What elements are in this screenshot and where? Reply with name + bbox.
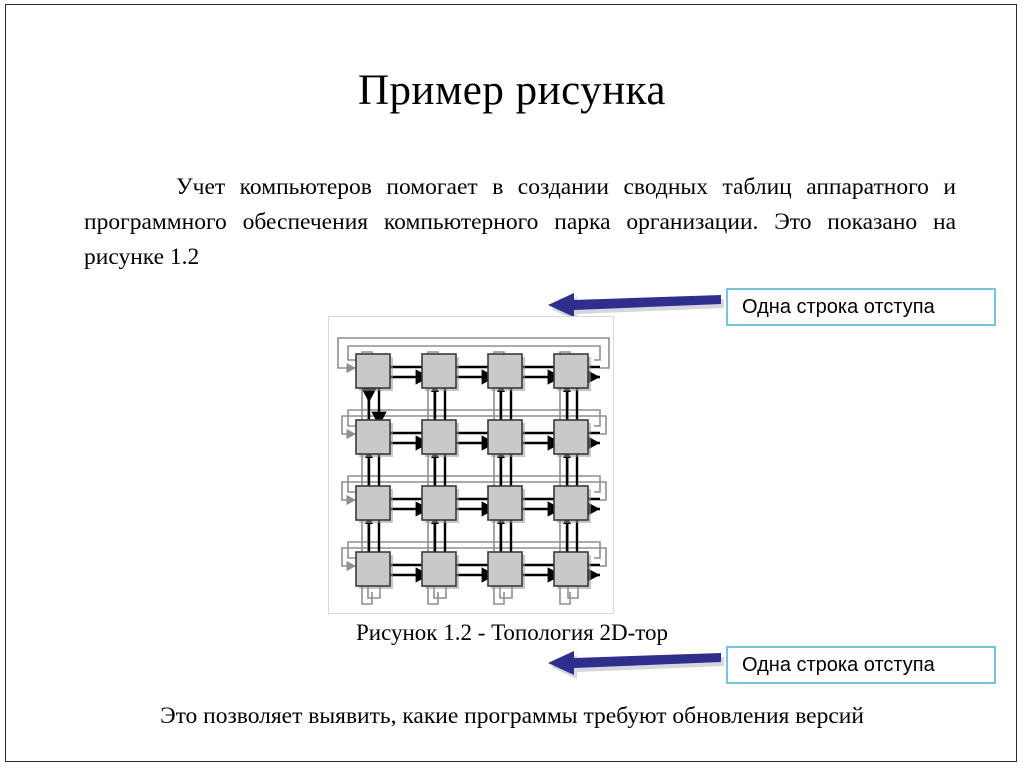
- annotation-arrow-bottom: [548, 650, 724, 684]
- intro-paragraph: Учет компьютеров помогает в создании сво…: [84, 170, 956, 275]
- closing-line: Это позволяет выявить, какие программы т…: [0, 700, 1024, 732]
- callout-label-bottom: Одна строка отступа: [742, 654, 935, 677]
- figure-caption: Рисунок 1.2 - Топология 2D-тор: [0, 618, 1024, 648]
- callout-box-top: Одна строка отступа: [726, 288, 996, 326]
- page-title: Пример рисунка: [0, 66, 1024, 116]
- callout-label-top: Одна строка отступа: [742, 296, 935, 319]
- figure-2d-torus: [328, 316, 614, 614]
- torus-diagram-svg: [328, 316, 614, 614]
- callout-box-bottom: Одна строка отступа: [726, 646, 996, 684]
- left-arrow-icon: [548, 650, 724, 684]
- slide-canvas: Пример рисунка Учет компьютеров помогает…: [0, 0, 1024, 768]
